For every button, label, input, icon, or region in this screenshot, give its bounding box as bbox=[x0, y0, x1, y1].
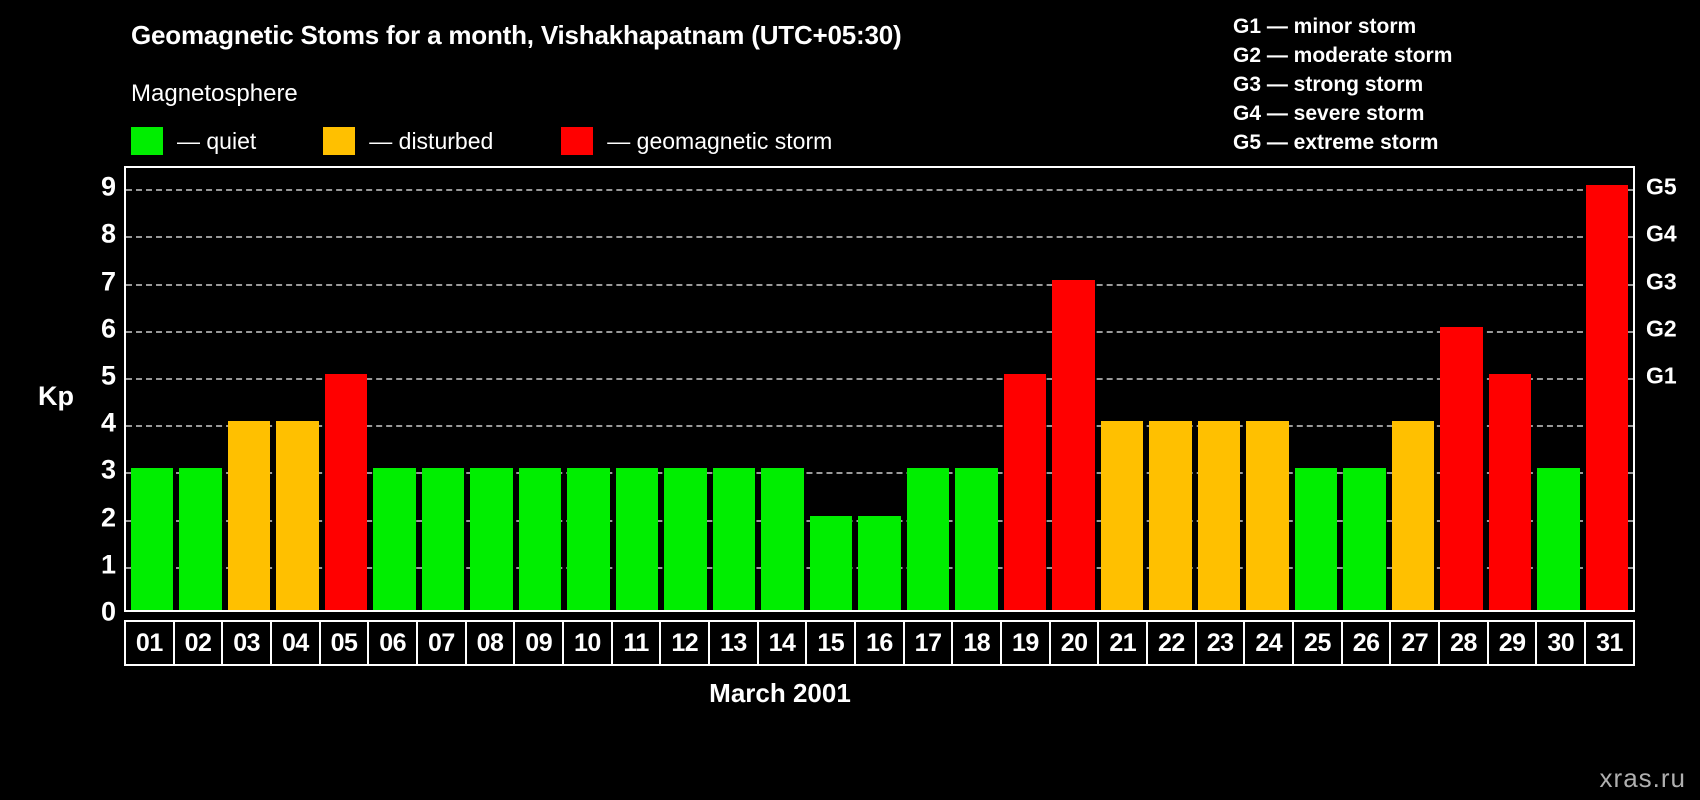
bar-slot bbox=[370, 168, 418, 610]
bar-series bbox=[128, 168, 1631, 610]
x-axis-day-labels: 0102030405060708091011121314151617181920… bbox=[124, 620, 1635, 666]
bar-slot bbox=[1001, 168, 1049, 610]
bar-day-04[interactable] bbox=[276, 421, 318, 610]
day-label-31[interactable]: 31 bbox=[1586, 622, 1633, 664]
bar-slot bbox=[322, 168, 370, 610]
g-axis-label-g2: G2 bbox=[1646, 315, 1677, 342]
bar-day-11[interactable] bbox=[616, 468, 658, 610]
bar-slot bbox=[758, 168, 806, 610]
bar-day-12[interactable] bbox=[664, 468, 706, 610]
red-square-icon bbox=[561, 127, 593, 155]
bar-slot bbox=[807, 168, 855, 610]
bar-day-07[interactable] bbox=[422, 468, 464, 610]
bar-day-02[interactable] bbox=[179, 468, 221, 610]
y-tick-label: 1 bbox=[101, 551, 116, 578]
y-axis-title: Kp bbox=[38, 381, 74, 412]
day-label-19[interactable]: 19 bbox=[1002, 622, 1051, 664]
g-axis-label-g4: G4 bbox=[1646, 221, 1677, 248]
bar-slot bbox=[1243, 168, 1291, 610]
bar-day-21[interactable] bbox=[1101, 421, 1143, 610]
bar-slot bbox=[128, 168, 176, 610]
bar-day-01[interactable] bbox=[131, 468, 173, 610]
y-tick-label: 2 bbox=[101, 504, 116, 531]
g-scale-row-g5: G5 — extreme storm bbox=[1233, 128, 1452, 157]
magnetosphere-legend: — quiet — disturbed — geomagnetic storm bbox=[131, 126, 832, 156]
bar-day-14[interactable] bbox=[761, 468, 803, 610]
y-tick-label: 3 bbox=[101, 457, 116, 484]
watermark: xras.ru bbox=[1600, 763, 1686, 794]
bar-day-31[interactable] bbox=[1586, 185, 1628, 610]
bar-day-25[interactable] bbox=[1295, 468, 1337, 610]
y-axis-labels: 9876543210 bbox=[72, 166, 116, 612]
day-label-10[interactable]: 10 bbox=[564, 622, 613, 664]
g-scale-row-g4: G4 — severe storm bbox=[1233, 99, 1452, 128]
bar-day-30[interactable] bbox=[1537, 468, 1579, 610]
g-axis-label-g3: G3 bbox=[1646, 268, 1677, 295]
bar-day-23[interactable] bbox=[1198, 421, 1240, 610]
g-scale-row-g3: G3 — strong storm bbox=[1233, 70, 1452, 99]
day-label-18[interactable]: 18 bbox=[953, 622, 1002, 664]
y-tick-label: 4 bbox=[101, 410, 116, 437]
legend-label-storm: — geomagnetic storm bbox=[607, 128, 832, 155]
x-axis-title: March 2001 bbox=[0, 678, 1700, 709]
bar-slot bbox=[564, 168, 612, 610]
day-label-29[interactable]: 29 bbox=[1489, 622, 1538, 664]
bar-day-17[interactable] bbox=[907, 468, 949, 610]
bar-slot bbox=[273, 168, 321, 610]
bar-slot bbox=[1098, 168, 1146, 610]
bar-slot bbox=[613, 168, 661, 610]
day-label-01[interactable]: 01 bbox=[126, 622, 175, 664]
bar-slot bbox=[661, 168, 709, 610]
bar-day-10[interactable] bbox=[567, 468, 609, 610]
day-label-13[interactable]: 13 bbox=[710, 622, 759, 664]
day-label-21[interactable]: 21 bbox=[1099, 622, 1148, 664]
g-axis-label-g1: G1 bbox=[1646, 363, 1677, 390]
bar-slot bbox=[1486, 168, 1534, 610]
day-label-05[interactable]: 05 bbox=[321, 622, 370, 664]
day-label-28[interactable]: 28 bbox=[1440, 622, 1489, 664]
y-tick-label: 7 bbox=[101, 268, 116, 295]
bar-slot bbox=[176, 168, 224, 610]
bar-slot bbox=[952, 168, 1000, 610]
bar-day-22[interactable] bbox=[1149, 421, 1191, 610]
bar-day-13[interactable] bbox=[713, 468, 755, 610]
day-label-27[interactable]: 27 bbox=[1391, 622, 1440, 664]
bar-day-26[interactable] bbox=[1343, 468, 1385, 610]
bar-day-18[interactable] bbox=[955, 468, 997, 610]
legend-item-disturbed: — disturbed bbox=[323, 126, 493, 156]
g-scale-row-g2: G2 — moderate storm bbox=[1233, 41, 1452, 70]
g-scale-legend: G1 — minor storm G2 — moderate storm G3 … bbox=[1233, 12, 1452, 157]
bar-day-16[interactable] bbox=[858, 516, 900, 610]
bar-slot bbox=[1195, 168, 1243, 610]
day-label-09[interactable]: 09 bbox=[515, 622, 564, 664]
day-label-30[interactable]: 30 bbox=[1537, 622, 1586, 664]
y-tick-label: 5 bbox=[101, 363, 116, 390]
bar-slot bbox=[1292, 168, 1340, 610]
g-scale-row-g1: G1 — minor storm bbox=[1233, 12, 1452, 41]
orange-square-icon bbox=[323, 127, 355, 155]
legend-heading: Magnetosphere bbox=[131, 80, 298, 108]
day-label-17[interactable]: 17 bbox=[905, 622, 954, 664]
day-label-26[interactable]: 26 bbox=[1343, 622, 1392, 664]
bar-day-03[interactable] bbox=[228, 421, 270, 610]
day-label-24[interactable]: 24 bbox=[1245, 622, 1294, 664]
bar-day-09[interactable] bbox=[519, 468, 561, 610]
day-label-02[interactable]: 02 bbox=[175, 622, 224, 664]
day-label-25[interactable]: 25 bbox=[1294, 622, 1343, 664]
bar-slot bbox=[1389, 168, 1437, 610]
day-label-07[interactable]: 07 bbox=[418, 622, 467, 664]
page-title: Geomagnetic Stoms for a month, Vishakhap… bbox=[131, 20, 901, 51]
y-tick-label: 0 bbox=[101, 599, 116, 626]
legend-label-disturbed: — disturbed bbox=[369, 128, 493, 155]
bar-day-08[interactable] bbox=[470, 468, 512, 610]
day-label-06[interactable]: 06 bbox=[369, 622, 418, 664]
bar-slot bbox=[1049, 168, 1097, 610]
day-label-15[interactable]: 15 bbox=[807, 622, 856, 664]
bar-day-28[interactable] bbox=[1440, 327, 1482, 610]
day-label-23[interactable]: 23 bbox=[1197, 622, 1246, 664]
day-label-11[interactable]: 11 bbox=[613, 622, 662, 664]
bar-day-15[interactable] bbox=[810, 516, 852, 610]
legend-item-quiet: — quiet bbox=[131, 126, 256, 156]
day-label-03[interactable]: 03 bbox=[223, 622, 272, 664]
bar-day-24[interactable] bbox=[1246, 421, 1288, 610]
bar-day-19[interactable] bbox=[1004, 374, 1046, 610]
bar-slot bbox=[1146, 168, 1194, 610]
chart-page: Geomagnetic Stoms for a month, Vishakhap… bbox=[0, 0, 1700, 800]
bar-slot bbox=[855, 168, 903, 610]
bar-slot bbox=[1340, 168, 1388, 610]
bar-slot bbox=[1437, 168, 1485, 610]
bar-slot bbox=[1534, 168, 1582, 610]
y-tick-label: 8 bbox=[101, 221, 116, 248]
x-axis-title-text: March 2001 bbox=[709, 678, 851, 708]
g-axis-label-g5: G5 bbox=[1646, 174, 1677, 201]
bar-day-06[interactable] bbox=[373, 468, 415, 610]
day-label-12[interactable]: 12 bbox=[661, 622, 710, 664]
bar-day-29[interactable] bbox=[1489, 374, 1531, 610]
day-label-20[interactable]: 20 bbox=[1051, 622, 1100, 664]
day-label-14[interactable]: 14 bbox=[759, 622, 808, 664]
bar-day-27[interactable] bbox=[1392, 421, 1434, 610]
bar-slot bbox=[904, 168, 952, 610]
legend-label-quiet: — quiet bbox=[177, 128, 256, 155]
green-square-icon bbox=[131, 127, 163, 155]
bar-day-20[interactable] bbox=[1052, 280, 1094, 610]
bar-slot bbox=[467, 168, 515, 610]
day-label-04[interactable]: 04 bbox=[272, 622, 321, 664]
y-tick-label: 9 bbox=[101, 174, 116, 201]
bar-slot bbox=[516, 168, 564, 610]
bar-slot bbox=[419, 168, 467, 610]
g-axis-labels: G5G4G3G2G1 bbox=[1646, 166, 1698, 612]
day-label-22[interactable]: 22 bbox=[1148, 622, 1197, 664]
legend-item-storm: — geomagnetic storm bbox=[561, 126, 832, 156]
day-label-08[interactable]: 08 bbox=[467, 622, 516, 664]
bar-day-05[interactable] bbox=[325, 374, 367, 610]
bar-slot bbox=[710, 168, 758, 610]
bar-slot bbox=[1583, 168, 1631, 610]
day-label-16[interactable]: 16 bbox=[856, 622, 905, 664]
plot-area bbox=[124, 166, 1635, 612]
bar-slot bbox=[225, 168, 273, 610]
y-tick-label: 6 bbox=[101, 315, 116, 342]
